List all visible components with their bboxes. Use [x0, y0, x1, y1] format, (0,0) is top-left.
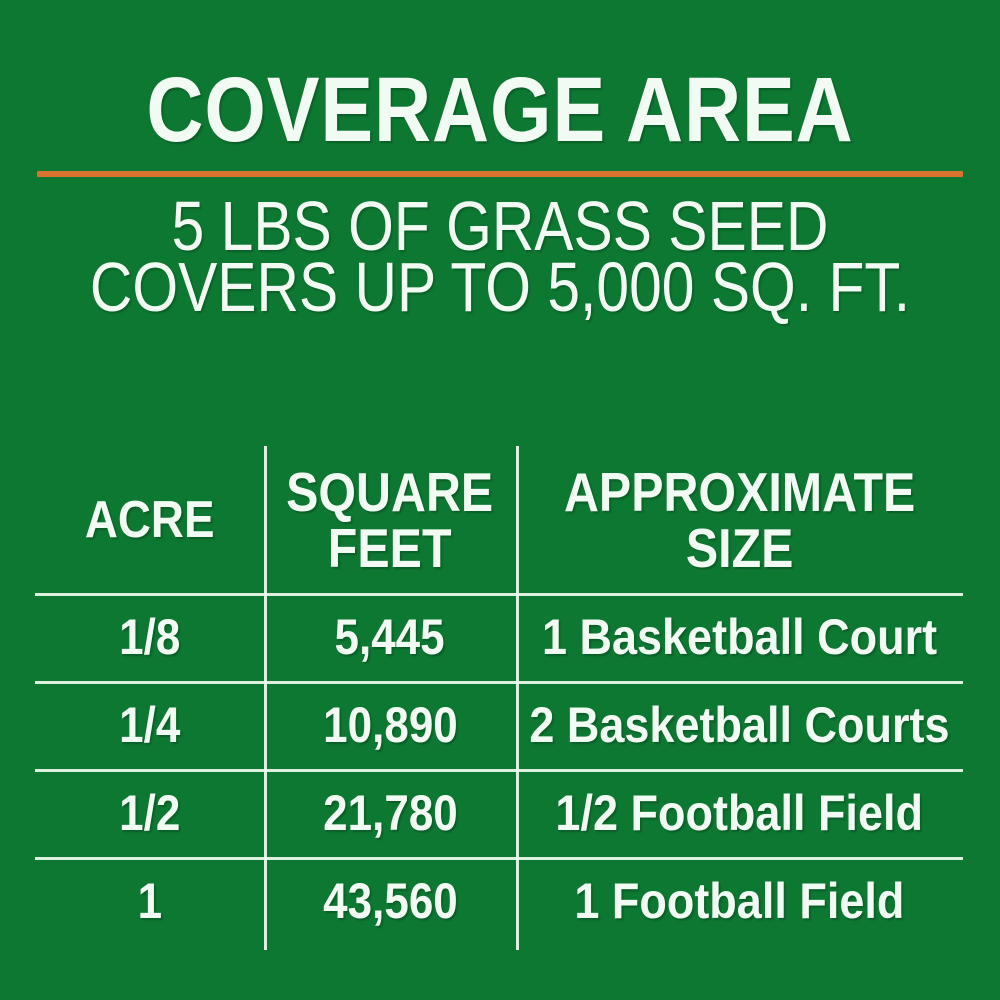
cell-acre-value: 1/8 [119, 611, 180, 663]
cell-square-feet-value: 43,560 [323, 875, 458, 927]
cell-approximate-size-value: 1 Basketball Court [542, 611, 937, 663]
column-header-square-feet-line-1: SQUARE [286, 464, 493, 520]
column-header-approximate-size-line-1: APPROXIMATE [564, 464, 915, 520]
cell-acre: 1/8 [35, 611, 264, 663]
coverage-table: ACRE SQUARE FEET APPROXIMATE SIZE [35, 446, 963, 950]
column-header-square-feet: SQUARE FEET [264, 464, 516, 576]
cell-approximate-size: 1 Basketball Court [516, 611, 963, 663]
cell-square-feet-value: 21,780 [323, 787, 458, 839]
coverage-table-grid: ACRE SQUARE FEET APPROXIMATE SIZE [35, 446, 963, 945]
cell-square-feet-value: 5,445 [335, 611, 445, 663]
cell-acre-value: 1/2 [119, 787, 180, 839]
table-header-row: ACRE SQUARE FEET APPROXIMATE SIZE [35, 446, 963, 593]
cell-square-feet: 43,560 [264, 875, 516, 927]
table-row: 1/2 21,780 1/2 Football Field [35, 769, 963, 857]
column-header-approximate-size: APPROXIMATE SIZE [516, 464, 963, 576]
cell-square-feet: 21,780 [264, 787, 516, 839]
cell-acre-value: 1/4 [119, 699, 180, 751]
cell-approximate-size: 1 Football Field [516, 875, 963, 927]
cell-acre: 1/4 [35, 699, 264, 751]
table-row: 1 43,560 1 Football Field [35, 857, 963, 945]
cell-square-feet: 10,890 [264, 699, 516, 751]
coverage-area-panel: COVERAGE AREA 5 LBS OF GRASS SEED COVERS… [0, 0, 1000, 1000]
cell-acre: 1/2 [35, 787, 264, 839]
table-row: 1/8 5,445 1 Basketball Court [35, 593, 963, 681]
coverage-subtitle: 5 LBS OF GRASS SEED COVERS UP TO 5,000 S… [0, 196, 1000, 318]
cell-square-feet-value: 10,890 [323, 699, 458, 751]
cell-approximate-size-value: 1/2 Football Field [556, 787, 924, 839]
column-header-square-feet-line-2: FEET [286, 520, 493, 576]
cell-approximate-size-value: 2 Basketball Courts [529, 699, 949, 751]
cell-approximate-size: 1/2 Football Field [516, 787, 963, 839]
column-header-approximate-size-line-2: SIZE [564, 520, 915, 576]
cell-square-feet: 5,445 [264, 611, 516, 663]
column-header-acre: ACRE [35, 492, 264, 548]
table-row: 1/4 10,890 2 Basketball Courts [35, 681, 963, 769]
cell-acre: 1 [35, 875, 264, 927]
title-divider-rule [37, 171, 963, 177]
cell-approximate-size: 2 Basketball Courts [516, 699, 963, 751]
page-title: COVERAGE AREA [70, 64, 930, 156]
subtitle-line-2: COVERS UP TO 5,000 SQ. FT. [80, 257, 920, 318]
cell-approximate-size-value: 1 Football Field [574, 875, 904, 927]
column-header-acre-line-1: ACRE [85, 492, 215, 548]
cell-acre-value: 1 [137, 875, 161, 927]
